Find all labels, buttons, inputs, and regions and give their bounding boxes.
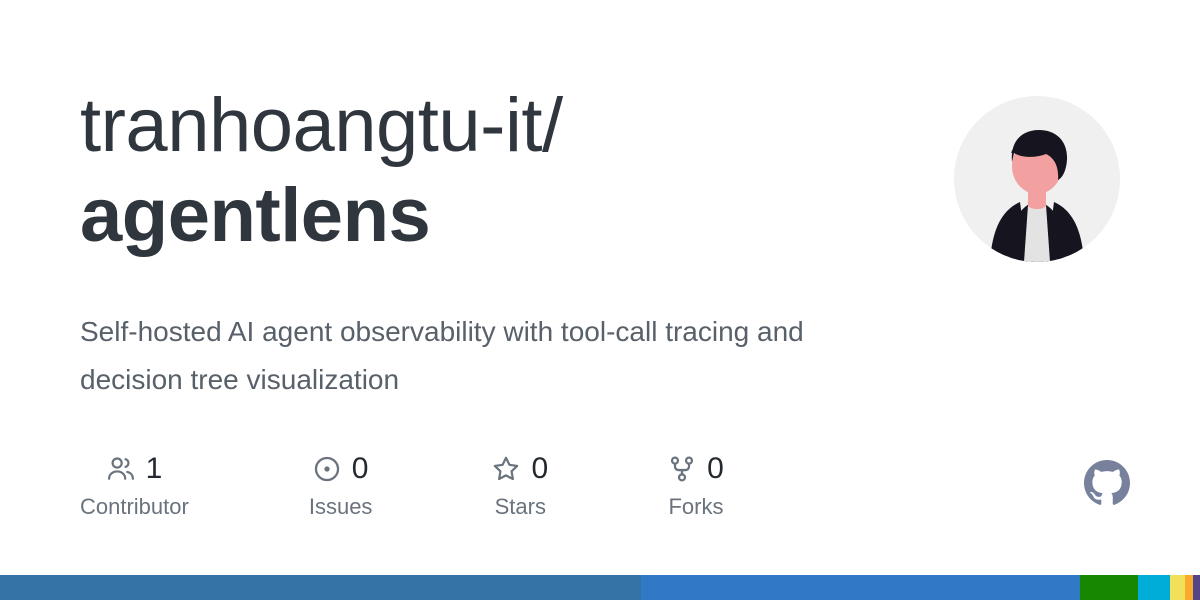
stat-label: Forks: [668, 494, 723, 520]
stat-value: 0: [707, 454, 724, 484]
stats-row: 1 Contributor 0 Issues: [80, 452, 1130, 520]
stat-contributors[interactable]: 1 Contributor: [80, 452, 189, 520]
stat-value: 0: [531, 454, 548, 484]
avatar[interactable]: [954, 96, 1120, 262]
page-title: tranhoangtu-it/ agentlens: [80, 88, 563, 254]
issue-opened-icon: [313, 455, 341, 483]
repo-forked-icon: [668, 455, 696, 483]
stat-forks[interactable]: 0 Forks: [668, 452, 724, 520]
stat-issues[interactable]: 0 Issues: [309, 452, 373, 520]
language-segment-5: [1185, 575, 1193, 600]
stat-value: 1: [146, 454, 163, 484]
language-segment-2: [1080, 575, 1138, 600]
stat-top: 0: [313, 452, 369, 486]
stat-value: 0: [352, 454, 369, 484]
language-segment-6: [1193, 575, 1200, 600]
language-segment-4: [1170, 575, 1185, 600]
repo-social-preview-card: tranhoangtu-it/ agentlens: [0, 0, 1200, 600]
stat-label: Stars: [495, 494, 546, 520]
repo-name[interactable]: agentlens: [80, 178, 563, 254]
header-row: tranhoangtu-it/ agentlens: [80, 88, 1120, 262]
stat-stars[interactable]: 0 Stars: [492, 452, 548, 520]
stat-top: 0: [668, 452, 724, 486]
stat-top: 0: [492, 452, 548, 486]
stat-label: Issues: [309, 494, 373, 520]
language-segment-0: [0, 575, 641, 600]
title-block: tranhoangtu-it/ agentlens: [80, 88, 563, 254]
github-mark-icon: [1084, 460, 1130, 506]
language-bar: [0, 575, 1200, 600]
repo-description: Self-hosted AI agent observability with …: [80, 308, 810, 404]
people-icon: [107, 455, 135, 483]
stat-top: 1: [107, 452, 163, 486]
language-segment-3: [1138, 575, 1170, 600]
repo-owner[interactable]: tranhoangtu-it/: [80, 88, 563, 164]
language-segment-1: [641, 575, 1080, 600]
star-icon: [492, 455, 520, 483]
stat-label: Contributor: [80, 494, 189, 520]
